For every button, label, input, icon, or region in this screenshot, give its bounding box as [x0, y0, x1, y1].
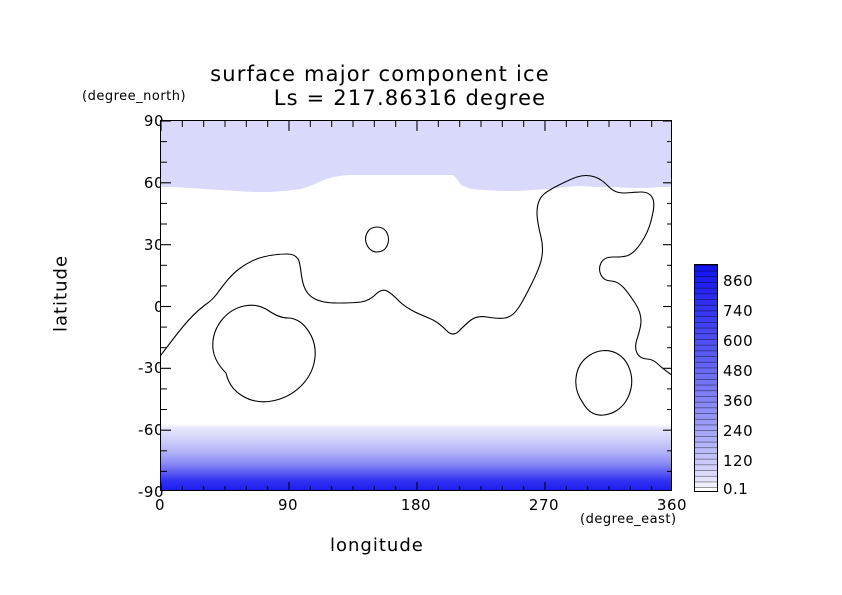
x-tick-label-0: 0 — [130, 496, 190, 514]
colorbar-tick-600: 600 — [723, 332, 753, 350]
colorbar-tick-0.1: 0.1 — [723, 480, 748, 498]
colorbar — [694, 264, 718, 492]
x-tick-label-270: 270 — [514, 496, 574, 514]
y-tick-label-m30: -30 — [104, 359, 164, 377]
y-tick-label-90: 90 — [104, 112, 164, 130]
colorbar-tick-120: 120 — [723, 452, 753, 470]
x-tick-label-180: 180 — [386, 496, 446, 514]
north-small-blob-contour — [366, 227, 389, 252]
x-tick-label-360: 360 — [642, 496, 702, 514]
plot-graphics — [161, 121, 672, 491]
x-axis-unit-label: (degree_east) — [580, 512, 677, 527]
y-axis-title: latitude — [51, 224, 72, 364]
x-axis-title: longitude — [330, 535, 424, 556]
chart-title: surface major component ice — [0, 62, 760, 86]
colorbar-bands — [695, 265, 718, 492]
colorbar-tick-860: 860 — [723, 272, 753, 290]
south-polar-cap-field — [161, 424, 672, 491]
figure-canvas: surface major component ice Ls = 217.863… — [0, 0, 842, 595]
x-tick-label-90: 90 — [258, 496, 318, 514]
y-axis-unit-label: (degree_north) — [82, 89, 186, 104]
southwest-closed-blob-contour — [213, 305, 315, 402]
colorbar-tick-480: 480 — [723, 362, 753, 380]
southeast-closed-blob-contour — [576, 351, 632, 416]
colorbar-tick-240: 240 — [723, 422, 753, 440]
y-tick-label-m60: -60 — [104, 421, 164, 439]
y-tick-label-30: 30 — [104, 236, 164, 254]
y-tick-label-0: 0 — [104, 298, 164, 316]
main-midlatitude-contour — [161, 176, 672, 377]
colorbar-tick-360: 360 — [723, 392, 753, 410]
colorbar-tick-740: 740 — [723, 302, 753, 320]
y-tick-label-60: 60 — [104, 174, 164, 192]
north-polar-cap-field — [161, 121, 672, 192]
plot-area — [160, 120, 672, 491]
